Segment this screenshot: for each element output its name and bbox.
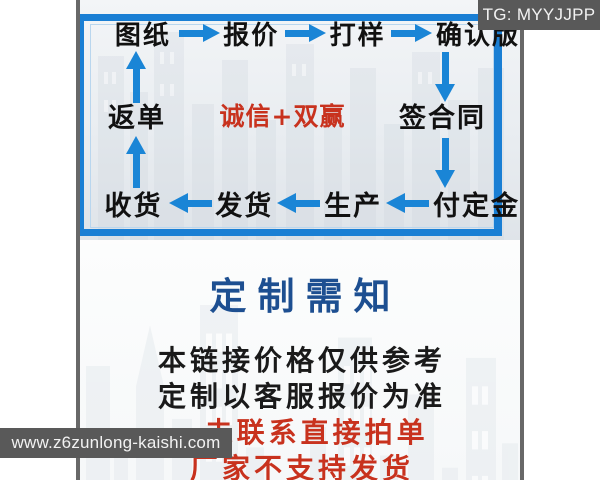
flow-row-bottom: 收货 发货 生产 付定金: [80, 182, 520, 224]
page-shadow-right: [520, 0, 524, 480]
flowchart-slogan: 诚信+双赢: [220, 97, 346, 133]
flow-node-sign-contract: 签合同: [399, 96, 486, 135]
flow-row-top: 图纸 报价 打样 确认版: [80, 16, 520, 50]
notice-title: 定制需知: [80, 266, 520, 320]
telegram-watermark: TG: MYYJJPP: [478, 0, 600, 30]
flow-node-drawing: 图纸: [115, 15, 171, 52]
notice-line-2: 定制以客服报价为准: [80, 375, 520, 415]
flow-node-sample: 打样: [330, 15, 386, 52]
arrow-left-icon: [386, 196, 429, 210]
flow-node-ship: 发货: [215, 184, 273, 223]
product-detail-page: 图纸 报价 打样 确认版 返单 诚信+双赢 签合同: [80, 0, 520, 480]
arrow-left-icon: [277, 196, 320, 210]
arrow-right-icon: [179, 26, 220, 40]
flow-node-receive: 收货: [105, 184, 163, 223]
flow-node-quote: 报价: [223, 15, 279, 52]
notice-line-1: 本链接价格仅供参考: [80, 339, 520, 379]
website-watermark: www.z6zunlong-kaishi.com: [0, 428, 232, 458]
arrow-right-icon: [391, 26, 432, 40]
flow-node-production: 生产: [324, 184, 382, 223]
flow-node-reorder: 返单: [108, 96, 166, 135]
arrow-right-icon: [285, 26, 326, 40]
flow-node-deposit: 付定金: [433, 184, 520, 223]
arrow-left-icon: [168, 196, 211, 210]
process-flowchart-panel: 图纸 报价 打样 确认版 返单 诚信+双赢 签合同: [80, 0, 520, 240]
flow-row-middle: 返单 诚信+双赢 签合同: [80, 95, 520, 135]
